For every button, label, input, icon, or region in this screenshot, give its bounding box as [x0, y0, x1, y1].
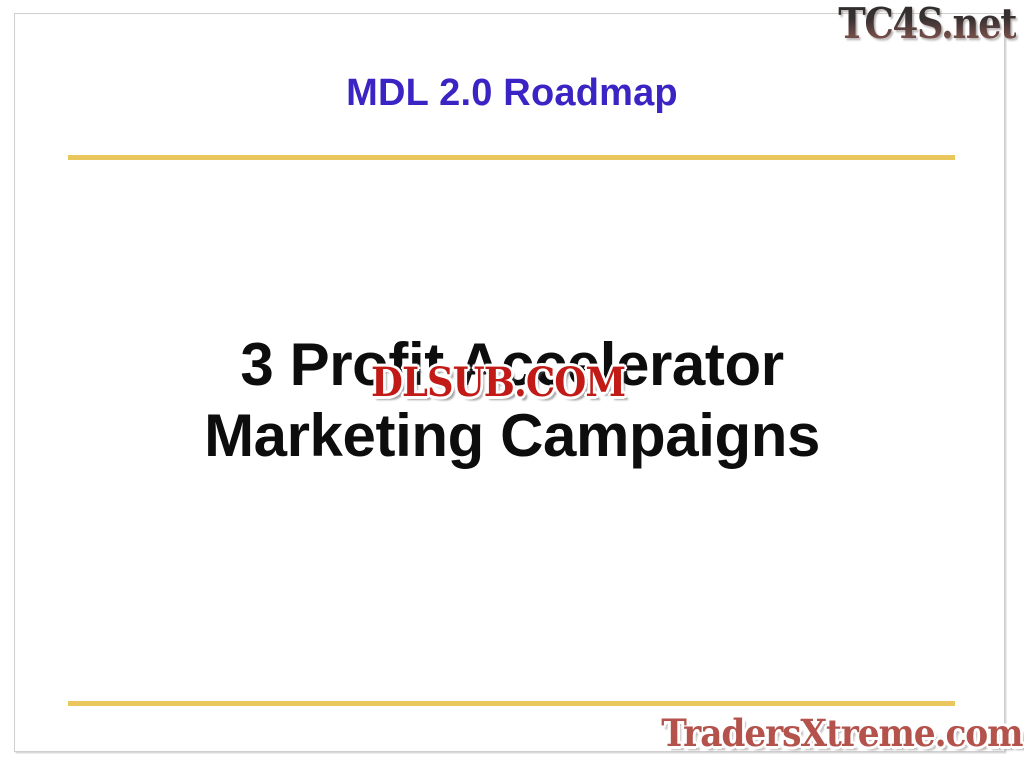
slide-body-text: 3 Profit Accelerator Marketing Campaigns: [0, 330, 1024, 472]
body-line-1: 3 Profit Accelerator: [0, 330, 1024, 401]
divider-rule-top: [68, 155, 955, 160]
slide-title: MDL 2.0 Roadmap: [0, 72, 1024, 116]
body-line-2: Marketing Campaigns: [0, 401, 1024, 472]
divider-rule-bottom: [68, 701, 955, 706]
slide-canvas: MDL 2.0 Roadmap 3 Profit Accelerator Mar…: [0, 0, 1024, 768]
